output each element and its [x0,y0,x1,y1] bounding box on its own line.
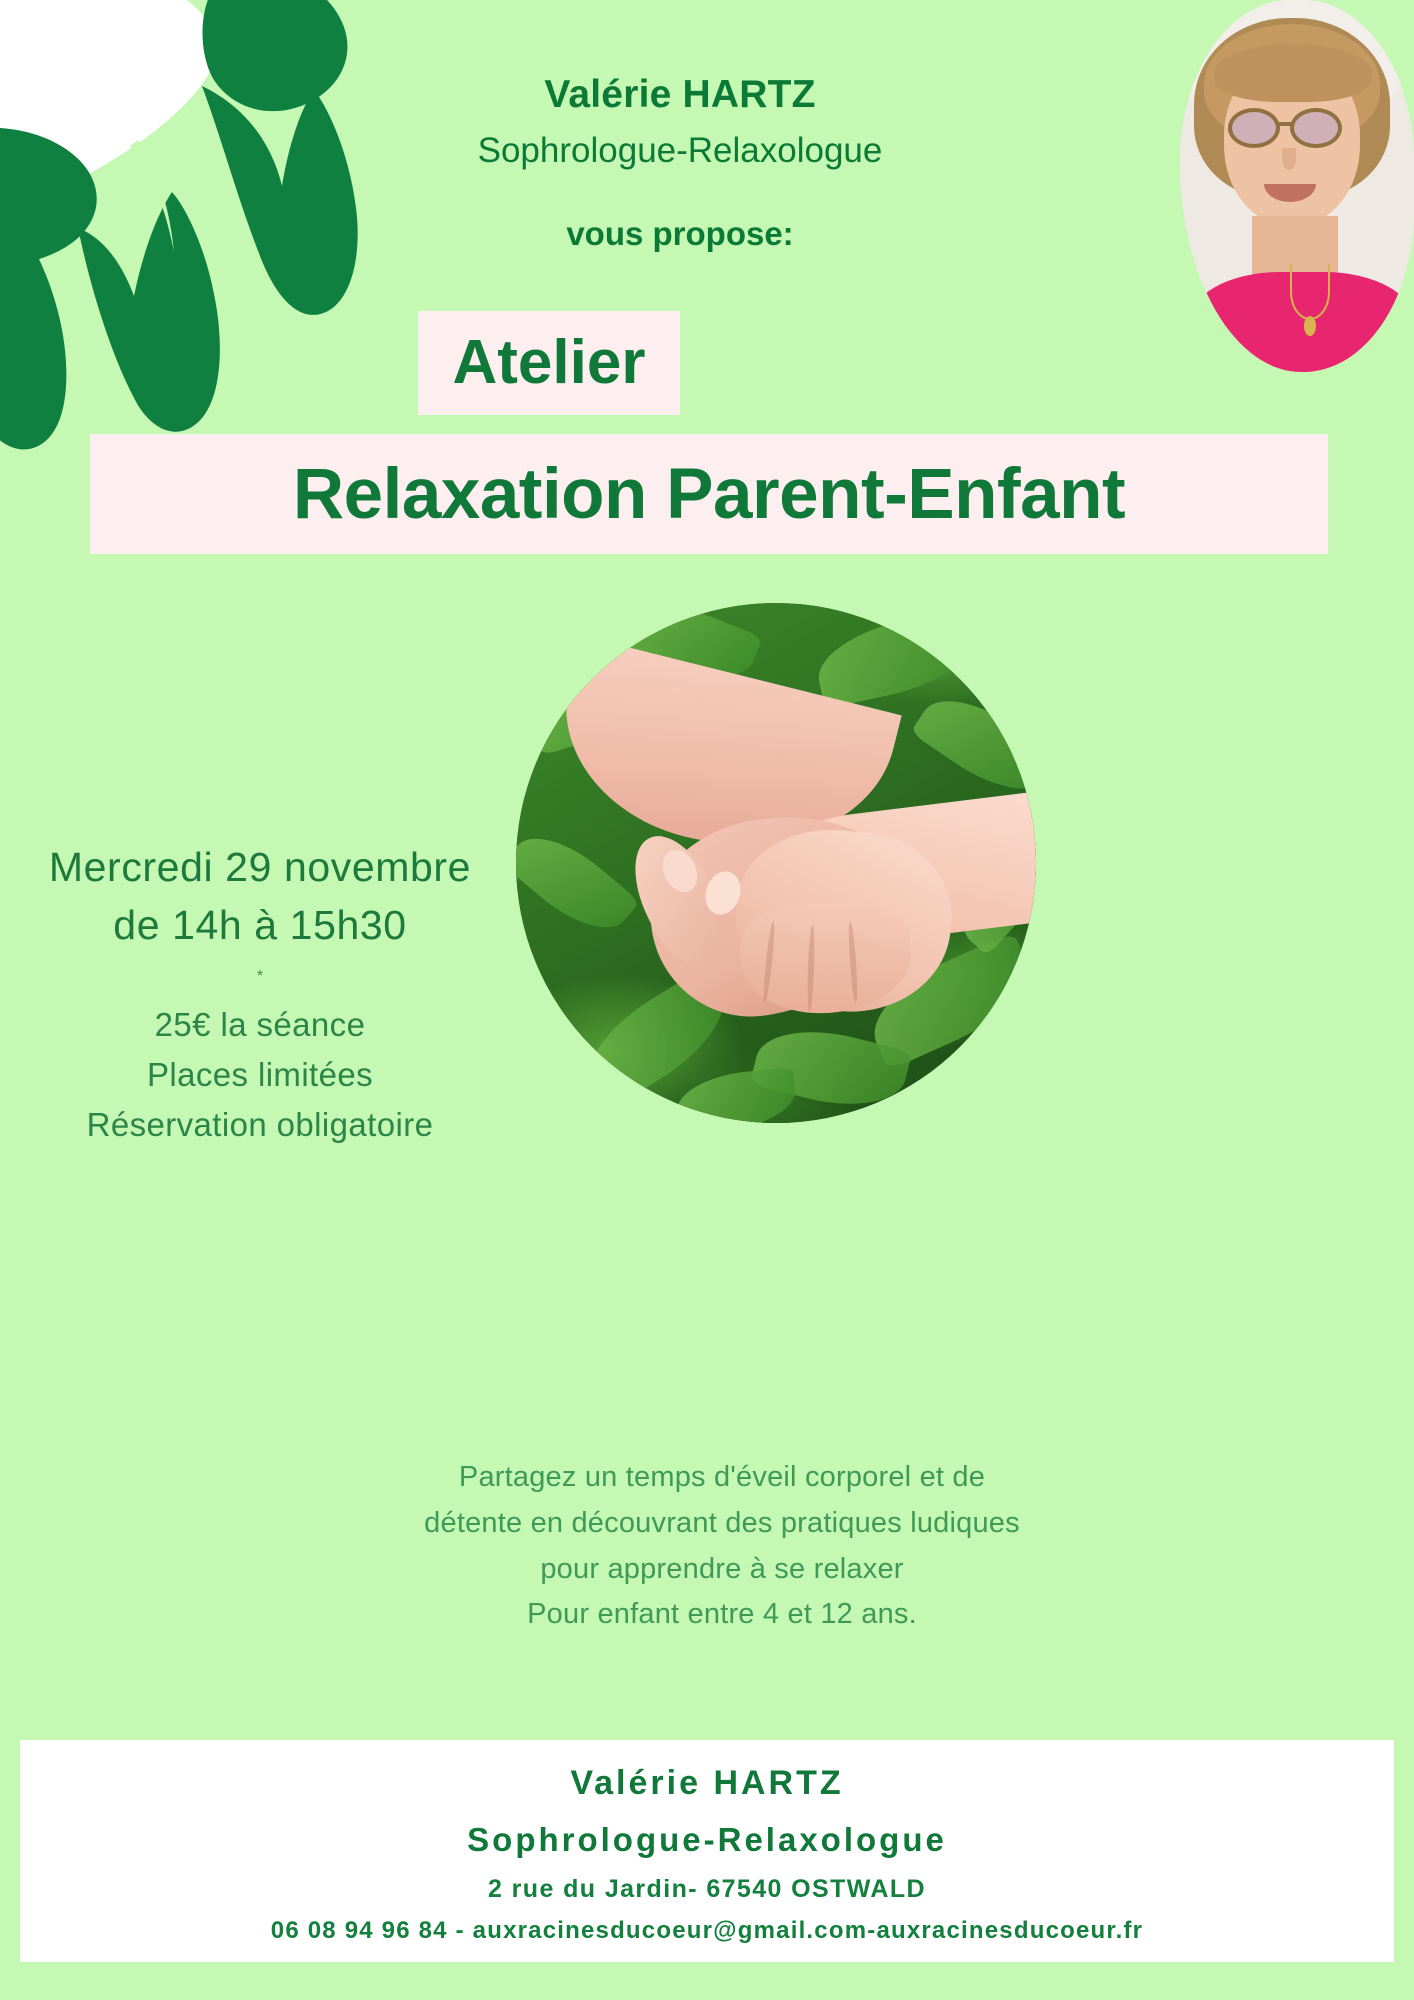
practitioner-role: Sophrologue-Relaxologue [400,131,960,171]
portrait-bangs [1214,44,1372,102]
description-line-4: Pour enfant entre 4 et 12 ans. [372,1592,1072,1638]
footer-address: 2 rue du Jardin- 67540 OSTWALD [20,1875,1394,1904]
kicker-title-text: Atelier [453,332,646,394]
description-line-1: Partagez un temps d'éveil corporel et de [372,1455,1072,1501]
description-line-2: détente en découvrant des pratiques ludi… [372,1501,1072,1547]
poster-canvas: Valérie HARTZ Sophrologue-Relaxologue vo… [0,0,1414,2000]
main-title-box: Relaxation Parent-Enfant [90,434,1328,554]
portrait-photo [1180,0,1414,372]
portrait-necklace [1290,264,1330,320]
ginkgo-leaves-decoration [0,0,450,460]
footer-name: Valérie HARTZ [20,1764,1394,1803]
kicker-title-box: Atelier [418,311,680,415]
limited-places-line: Places limitées [10,1050,510,1100]
portrait-glasses-left [1228,108,1280,148]
footer-block: Valérie HARTZ Sophrologue-Relaxologue 2 … [20,1740,1394,1962]
description-block: Partagez un temps d'éveil corporel et de… [372,1455,1072,1638]
footer-contact: 06 08 94 96 84 - auxracinesducoeur@gmail… [20,1917,1394,1945]
footer-role: Sophrologue-Relaxologue [20,1821,1394,1859]
main-title-text: Relaxation Parent-Enfant [293,459,1125,530]
asterisk-mark: * [10,968,510,986]
price-line: 25€ la séance [10,1000,510,1050]
reservation-line: Réservation obligatoire [10,1100,510,1150]
portrait-glasses-bridge [1278,122,1294,126]
schedule-time: de 14h à 15h30 [10,896,510,954]
description-line-3: pour apprendre à se relaxer [372,1547,1072,1593]
portrait-nose [1282,148,1296,170]
portrait-pendant [1304,316,1316,336]
schedule-block: Mercredi 29 novembre de 14h à 15h30 [10,838,510,954]
propose-label: vous propose: [400,215,960,253]
header-block: Valérie HARTZ Sophrologue-Relaxologue vo… [400,74,960,253]
portrait-glasses-right [1290,108,1342,148]
pricing-block: 25€ la séance Places limitées Réservatio… [10,1000,510,1150]
hands-photo [516,603,1036,1123]
schedule-date: Mercredi 29 novembre [10,838,510,896]
practitioner-name: Valérie HARTZ [400,74,960,117]
